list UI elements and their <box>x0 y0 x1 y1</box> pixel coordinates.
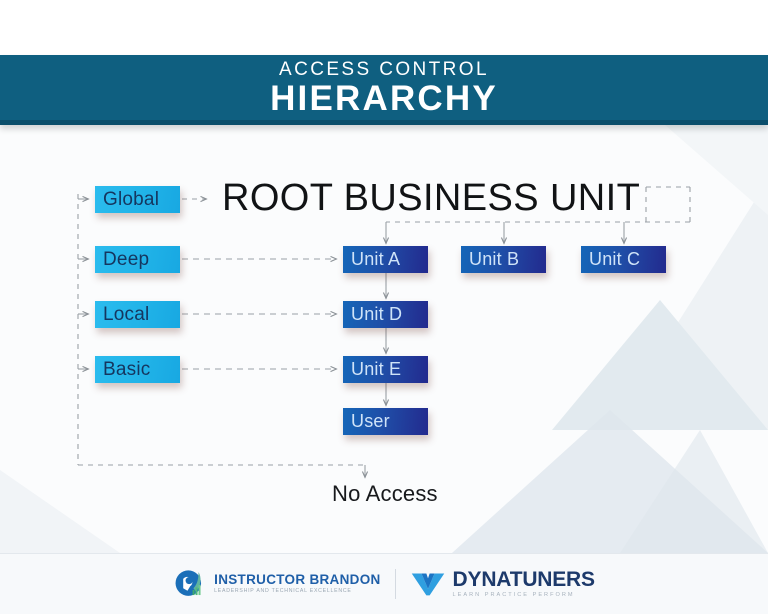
access-level-label: Deep <box>103 249 149 271</box>
root-business-unit-label: ROOT BUSINESS UNIT <box>222 177 640 220</box>
unit-box-c[interactable]: Unit C <box>581 246 666 273</box>
access-level-local[interactable]: Local <box>95 301 180 328</box>
unit-box-label: Unit C <box>589 249 640 270</box>
brand-tagline: LEADERSHIP AND TECHNICAL EXCELLENCE <box>214 588 380 595</box>
unit-box-label: Unit E <box>351 359 401 380</box>
access-level-deep[interactable]: Deep <box>95 246 180 273</box>
brand-name: INSTRUCTOR BRANDON <box>214 573 380 587</box>
unit-box-label: Unit D <box>351 304 402 325</box>
footer-divider <box>395 569 396 599</box>
brand-name: DYNATUNERS <box>453 569 595 591</box>
unit-box-label: User <box>351 411 390 432</box>
unit-box-user[interactable]: User <box>343 408 428 435</box>
unit-box-b[interactable]: Unit B <box>461 246 546 273</box>
unit-box-label: Unit A <box>351 249 400 270</box>
unit-box-a[interactable]: Unit A <box>343 246 428 273</box>
unit-box-label: Unit B <box>469 249 519 270</box>
access-level-label: Local <box>103 304 149 326</box>
dynatuners-logo-icon <box>410 571 446 597</box>
access-level-label: Basic <box>103 359 150 381</box>
instructor-brandon-logo-icon <box>173 567 207 601</box>
hierarchy-diagram: ROOT BUSINESS UNIT Global Deep Local Bas… <box>0 125 768 553</box>
brand-tagline: LEARN PRACTICE PERFORM <box>453 592 595 599</box>
brand-instructor-brandon[interactable]: INSTRUCTOR BRANDON LEADERSHIP AND TECHNI… <box>173 567 380 601</box>
access-level-label: Global <box>103 189 159 211</box>
header-banner: ACCESS CONTROL HIERARCHY <box>0 55 768 125</box>
unit-box-d[interactable]: Unit D <box>343 301 428 328</box>
access-level-basic[interactable]: Basic <box>95 356 180 383</box>
access-level-global[interactable]: Global <box>95 186 180 213</box>
footer-bar: INSTRUCTOR BRANDON LEADERSHIP AND TECHNI… <box>0 553 768 614</box>
header-subtitle: ACCESS CONTROL <box>279 60 489 79</box>
brand-dynatuners[interactable]: DYNATUNERS LEARN PRACTICE PERFORM <box>410 569 595 600</box>
no-access-label: No Access <box>332 481 438 507</box>
slide-canvas: ACCESS CONTROL HIERARCHY <box>0 0 768 614</box>
unit-box-e[interactable]: Unit E <box>343 356 428 383</box>
page-title: HIERARCHY <box>270 80 498 117</box>
